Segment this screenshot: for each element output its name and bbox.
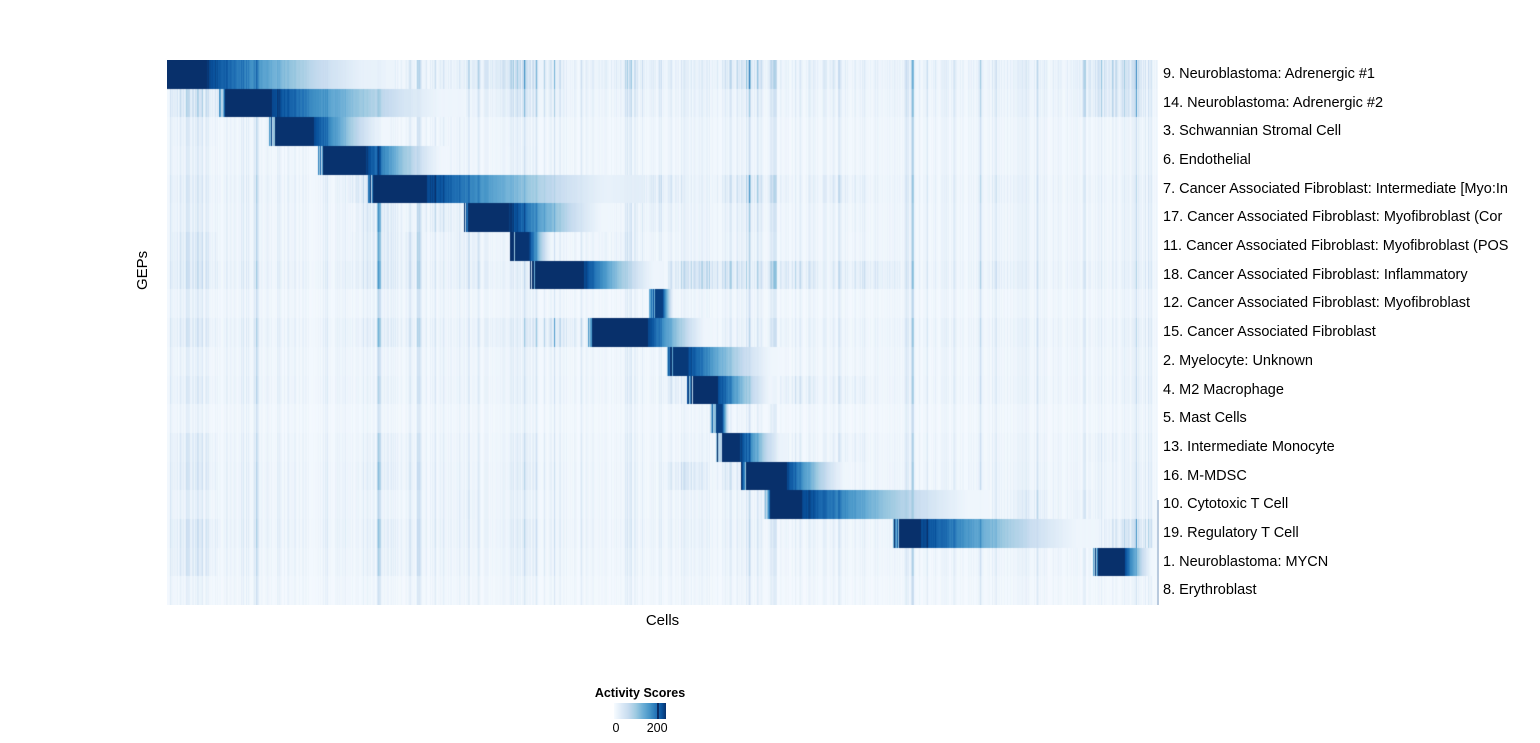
heatmap-plot-area bbox=[167, 60, 1158, 605]
colorbar-title: Activity Scores bbox=[590, 686, 690, 700]
colorbar-tick-label: 0 bbox=[613, 721, 620, 735]
y-axis-label: GEPs bbox=[134, 251, 151, 290]
row-label: 12. Cancer Associated Fibroblast: Myofib… bbox=[1163, 289, 1470, 318]
row-label: 11. Cancer Associated Fibroblast: Myofib… bbox=[1163, 232, 1508, 261]
heatmap-canvas bbox=[167, 60, 1158, 605]
row-label: 9. Neuroblastoma: Adrenergic #1 bbox=[1163, 60, 1375, 89]
row-label: 5. Mast Cells bbox=[1163, 404, 1247, 433]
row-label: 8. Erythroblast bbox=[1163, 576, 1257, 605]
row-label-list: 9. Neuroblastoma: Adrenergic #114. Neuro… bbox=[1163, 60, 1540, 605]
row-label: 7. Cancer Associated Fibroblast: Interme… bbox=[1163, 175, 1508, 204]
row-label: 17. Cancer Associated Fibroblast: Myofib… bbox=[1163, 203, 1502, 232]
row-label: 15. Cancer Associated Fibroblast bbox=[1163, 318, 1376, 347]
row-label: 2. Myelocyte: Unknown bbox=[1163, 347, 1313, 376]
row-label: 3. Schwannian Stromal Cell bbox=[1163, 117, 1341, 146]
row-label: 4. M2 Macrophage bbox=[1163, 376, 1284, 405]
colorbar-tick-label: 200 bbox=[647, 721, 668, 735]
row-label: 19. Regulatory T Cell bbox=[1163, 519, 1299, 548]
row-label: 18. Cancer Associated Fibroblast: Inflam… bbox=[1163, 261, 1468, 290]
row-label: 14. Neuroblastoma: Adrenergic #2 bbox=[1163, 89, 1383, 118]
row-label: 16. M-MDSC bbox=[1163, 462, 1247, 491]
row-label: 1. Neuroblastoma: MYCN bbox=[1163, 548, 1328, 577]
row-label: 6. Endothelial bbox=[1163, 146, 1251, 175]
row-label: 13. Intermediate Monocyte bbox=[1163, 433, 1335, 462]
x-axis-label: Cells bbox=[167, 612, 1158, 629]
plot-right-edge-rule bbox=[1157, 500, 1159, 605]
colorbar-tick bbox=[657, 703, 659, 719]
heatmap-figure: GEPs Cells 9. Neuroblastoma: Adrenergic … bbox=[0, 0, 1540, 743]
row-label: 10. Cytotoxic T Cell bbox=[1163, 490, 1288, 519]
